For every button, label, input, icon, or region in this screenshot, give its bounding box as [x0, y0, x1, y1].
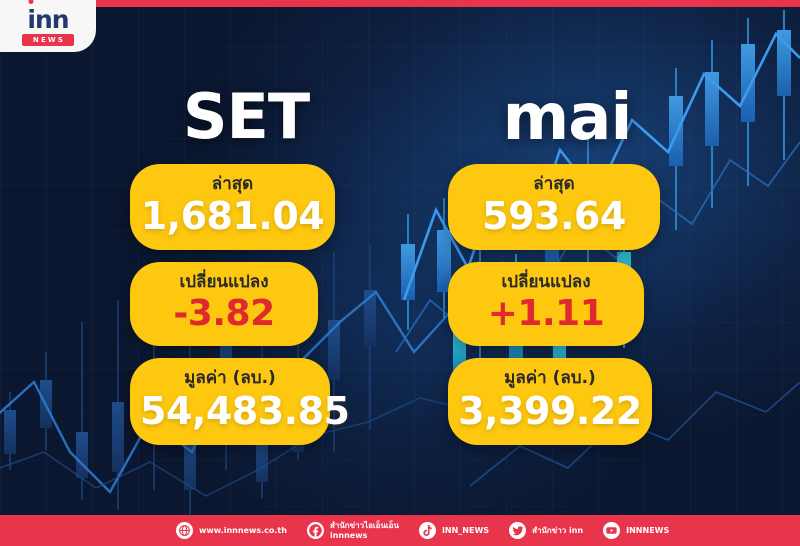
globe-icon	[176, 522, 193, 539]
footer-item-facebook[interactable]: สำนักข่าวไอเอ็นเอ็น innnews	[307, 521, 399, 541]
footer-website-text: www.innnews.co.th	[199, 526, 287, 536]
index-title-set: SET	[130, 86, 362, 148]
logo-wordmark: inn	[27, 7, 68, 32]
footer-twitter-text: สำนักข่าว inn	[532, 526, 583, 536]
footer-facebook-line2: innnews	[330, 531, 399, 541]
footer-item-website[interactable]: www.innnews.co.th	[176, 522, 287, 539]
mai-card-turnover[interactable]: มูลค่า (ลบ.) 3,399.22	[448, 358, 652, 444]
facebook-icon	[307, 522, 324, 539]
set-change-label: เปลี่ยนแปลง	[140, 272, 308, 293]
index-column-set: SET ล่าสุด 1,681.04 เปลี่ยนแปลง -3.82 มู…	[130, 86, 362, 457]
set-card-change[interactable]: เปลี่ยนแปลง -3.82	[130, 262, 318, 346]
set-card-latest[interactable]: ล่าสุด 1,681.04	[130, 164, 335, 250]
footer-item-tiktok[interactable]: INN_NEWS	[419, 522, 489, 539]
logo-news-tag: NEWS	[22, 34, 74, 46]
footer-facebook-text: สำนักข่าวไอเอ็นเอ็น innnews	[330, 521, 399, 541]
mai-latest-label: ล่าสุด	[458, 174, 650, 195]
mai-change-value: +1.11	[458, 295, 634, 334]
mai-card-change[interactable]: เปลี่ยนแปลง +1.11	[448, 262, 644, 346]
footer-item-youtube[interactable]: INNNEWS	[603, 522, 669, 539]
logo-letter-i: i	[27, 7, 35, 32]
infographic-canvas: inn NEWS SET ล่าสุด 1,681.04 เปลี่ยนแปลง…	[0, 0, 800, 546]
mai-card-latest[interactable]: ล่าสุด 593.64	[448, 164, 660, 250]
set-latest-value: 1,681.04	[140, 196, 325, 237]
logo-letters-nn: nn	[35, 7, 69, 32]
youtube-icon	[603, 522, 620, 539]
footer-facebook-line1: สำนักข่าวไอเอ็นเอ็น	[330, 521, 399, 530]
footer-item-twitter[interactable]: สำนักข่าว inn	[509, 522, 583, 539]
twitter-icon	[509, 522, 526, 539]
set-turnover-value: 54,483.85	[140, 391, 320, 432]
footer-tiktok-text: INN_NEWS	[442, 526, 489, 536]
social-footer: www.innnews.co.th สำนักข่าวไอเอ็นเอ็น in…	[0, 515, 800, 546]
mai-turnover-value: 3,399.22	[458, 391, 642, 432]
set-latest-label: ล่าสุด	[140, 174, 325, 195]
inn-news-logo[interactable]: inn NEWS	[0, 0, 96, 52]
mai-latest-value: 593.64	[458, 196, 650, 237]
index-title-mai: mai	[448, 86, 686, 150]
set-card-turnover[interactable]: มูลค่า (ลบ.) 54,483.85	[130, 358, 330, 444]
mai-change-label: เปลี่ยนแปลง	[458, 272, 634, 293]
mai-turnover-label: มูลค่า (ลบ.)	[458, 368, 642, 389]
footer-youtube-text: INNNEWS	[626, 526, 669, 536]
index-column-mai: mai ล่าสุด 593.64 เปลี่ยนแปลง +1.11 มูลค…	[448, 86, 686, 457]
set-turnover-label: มูลค่า (ลบ.)	[140, 368, 320, 389]
top-accent-bar	[0, 0, 800, 7]
set-change-value: -3.82	[140, 295, 308, 334]
tiktok-icon	[419, 522, 436, 539]
